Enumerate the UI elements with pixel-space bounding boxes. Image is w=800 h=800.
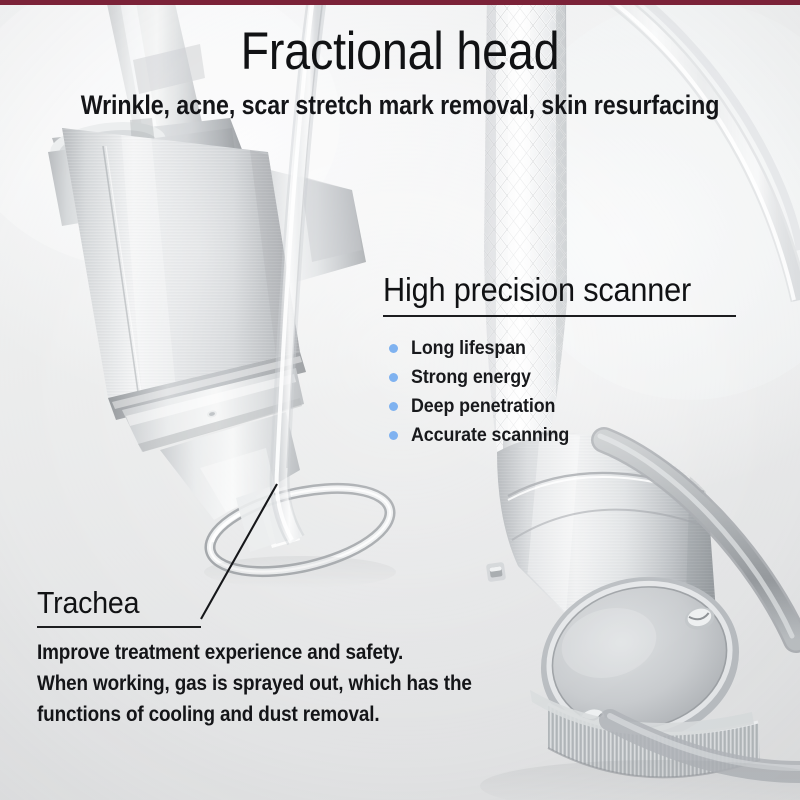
list-item: Long lifespan: [389, 334, 739, 363]
trachea-heading: Trachea: [37, 586, 469, 620]
list-item: Accurate scanning: [389, 421, 739, 450]
bullet-icon: [389, 402, 398, 411]
bullet-icon: [389, 431, 398, 440]
text-layer: Fractional head Wrinkle, acne, scar stre…: [0, 0, 800, 800]
page-title: Fractional head: [48, 24, 752, 79]
bullet-icon: [389, 373, 398, 382]
feature-label: Deep penetration: [411, 396, 555, 418]
scanner-heading: High precision scanner: [383, 272, 714, 308]
scanner-feature-list: Long lifespan Strong energy Deep penetra…: [383, 334, 739, 450]
trachea-line-1: Improve treatment experience and safety.: [37, 637, 460, 668]
trachea-line-3: functions of cooling and dust removal.: [37, 699, 460, 730]
page-subtitle: Wrinkle, acne, scar stretch mark removal…: [56, 90, 744, 120]
scanner-section: High precision scanner Long lifespan Str…: [383, 272, 739, 450]
product-feature-poster: Fractional head Wrinkle, acne, scar stre…: [0, 0, 800, 800]
bullet-icon: [389, 344, 398, 353]
list-item: Strong energy: [389, 363, 739, 392]
trachea-heading-rule: [37, 626, 201, 628]
feature-label: Long lifespan: [411, 338, 526, 360]
feature-label: Strong energy: [411, 367, 531, 389]
list-item: Deep penetration: [389, 392, 739, 421]
trachea-section: Trachea Improve treatment experience and…: [37, 586, 507, 730]
feature-label: Accurate scanning: [411, 425, 569, 447]
trachea-line-2: When working, gas is sprayed out, which …: [37, 668, 460, 699]
scanner-heading-rule: [383, 315, 736, 317]
